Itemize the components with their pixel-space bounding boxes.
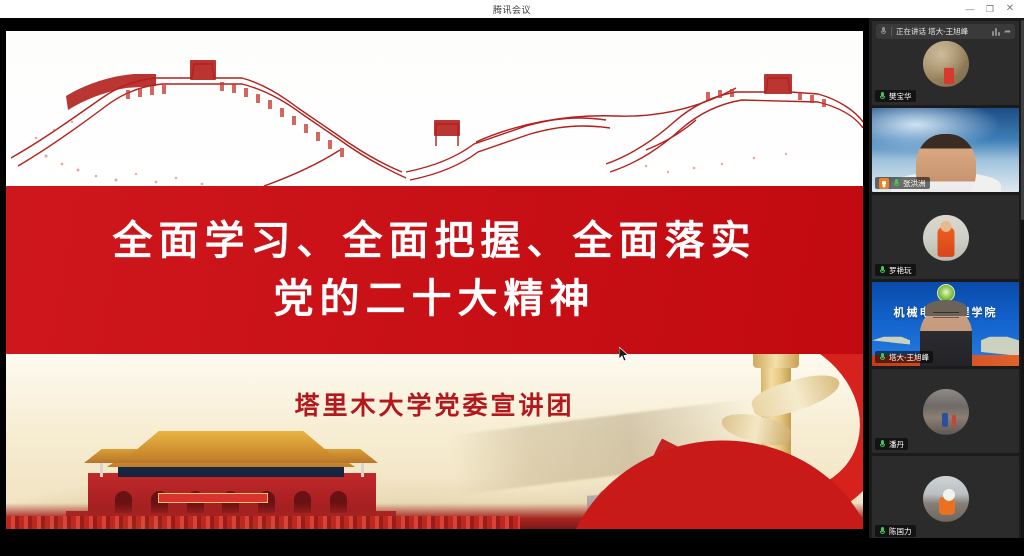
participant-name-chip: 张洪洲 (875, 177, 930, 189)
slide-title-line-1: 全面学习、全面把握、全面落实 (113, 216, 757, 266)
close-icon[interactable]: ✕ (1000, 0, 1020, 18)
shared-screen-stage[interactable]: 全面学习、全面把握、全面落实 党的二十大精神 (0, 18, 869, 538)
participant-video-panel[interactable]: 正在讲话 塔大-王旭峰 ➦ 樊宝华 张洪洲 (869, 18, 1024, 556)
avatar (923, 41, 969, 87)
pin-icon[interactable]: ➦ (1004, 27, 1011, 36)
mouse-cursor-icon (619, 347, 629, 362)
presentation-slide: 全面学习、全面把握、全面落实 党的二十大精神 (6, 31, 863, 529)
microphone-icon (879, 92, 886, 101)
avatar (923, 215, 969, 261)
title-bar: 腾讯会议 — ❐ ✕ (0, 0, 1024, 18)
participant-name-chip: 塔大-王旭峰 (875, 351, 933, 363)
microphone-icon (879, 353, 886, 362)
slide-photo-band (6, 354, 863, 529)
avatar (923, 389, 969, 435)
glasses-icon (933, 312, 959, 318)
active-speaker-label: 正在讲话 塔大-王旭峰 (896, 26, 988, 37)
microphone-icon (893, 179, 900, 188)
participant-tile[interactable]: 陈国力 (872, 456, 1019, 540)
participant-name: 樊宝华 (889, 91, 912, 102)
slide-title-band: 全面学习、全面把握、全面落实 党的二十大精神 (6, 186, 863, 354)
divider (891, 27, 892, 36)
window-controls: — ❐ ✕ (960, 0, 1020, 18)
ribbon-huabiao-illustration (563, 354, 863, 529)
participant-name: 塔大-王旭峰 (889, 352, 929, 363)
flowerbed-illustration (6, 516, 520, 529)
tencent-meeting-window: 腾讯会议 — ❐ ✕ (0, 0, 1024, 556)
participant-tile[interactable]: 罗艳玩 (872, 195, 1019, 279)
slide-title-line-2: 党的二十大精神 (274, 274, 596, 324)
minimize-icon[interactable]: — (960, 0, 980, 18)
participant-tile[interactable]: 张洪洲 (872, 108, 1019, 192)
participant-name: 陈国力 (889, 526, 912, 537)
participant-name-chip: 樊宝华 (875, 90, 916, 102)
participant-tile[interactable]: 潘丹 (872, 369, 1019, 453)
microphone-icon (879, 440, 886, 449)
host-badge-icon (879, 178, 889, 189)
participant-tile-active-speaker[interactable]: 机械电气工程学院 塔大-王旭峰 (872, 282, 1019, 366)
great-wall-illustration (6, 31, 863, 186)
participant-tile[interactable]: 正在讲话 塔大-王旭峰 ➦ 樊宝华 (872, 21, 1019, 105)
great-wall-icon (6, 38, 863, 186)
slide-subtitle: 塔里木大学党委宣讲团 (294, 391, 574, 420)
microphone-muted-icon (880, 27, 887, 36)
microphone-icon (879, 527, 886, 536)
audio-wave-icon (992, 27, 1000, 36)
participant-name: 罗艳玩 (889, 265, 912, 276)
avatar (923, 476, 969, 522)
active-speaker-banner[interactable]: 正在讲话 塔大-王旭峰 ➦ (876, 24, 1015, 39)
slide-subtitle-row: 塔里木大学党委宣讲团 (6, 386, 863, 422)
microphone-icon (879, 266, 886, 275)
window-title: 腾讯会议 (493, 3, 531, 16)
participant-name-chip: 陈国力 (875, 525, 916, 537)
meeting-body: 全面学习、全面把握、全面落实 党的二十大精神 (0, 18, 1024, 556)
participant-name: 潘丹 (889, 439, 904, 450)
bottom-strip (0, 538, 1024, 556)
participant-name-chip: 潘丹 (875, 438, 908, 450)
participant-name-chip: 罗艳玩 (875, 264, 916, 276)
participant-name: 张洪洲 (903, 178, 926, 189)
maximize-icon[interactable]: ❐ (980, 0, 1000, 18)
